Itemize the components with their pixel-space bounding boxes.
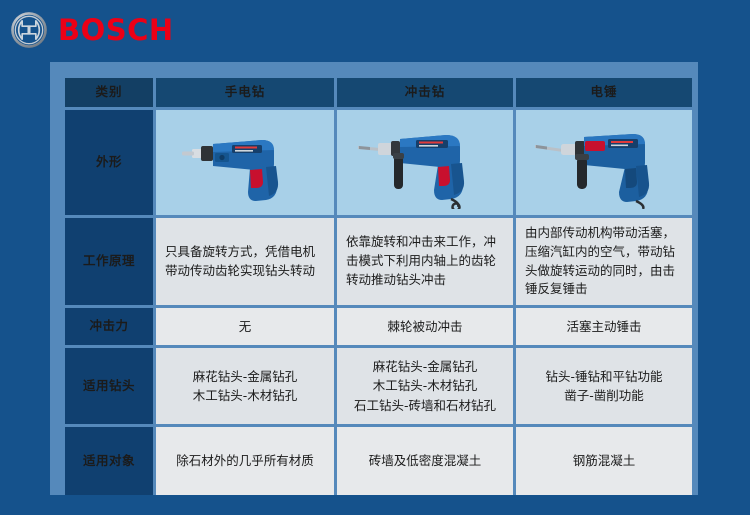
table-row-suitable-materials: 适用对象 除石材外的几乎所有材质 砖墙及低密度混凝土 钢筋混凝土 bbox=[65, 427, 692, 495]
cell-text: 活塞主动锤击 bbox=[516, 313, 692, 340]
rotary-hammer-image bbox=[529, 117, 679, 209]
header-cell-category: 类别 bbox=[65, 78, 153, 107]
cell-text: 钢筋混凝土 bbox=[516, 447, 692, 474]
row-label-working-principle: 工作原理 bbox=[65, 218, 153, 305]
impact-drill-image bbox=[350, 117, 500, 209]
table-header-row: 类别 手电钻 冲击钻 电锤 bbox=[65, 78, 692, 107]
cell-principle-hand-drill: 只具备旋转方式，凭借电机带动传动齿轮实现钻头转动 bbox=[156, 218, 334, 305]
cell-force-impact-drill: 棘轮被动冲击 bbox=[337, 308, 513, 345]
cell-text: 依靠旋转和冲击来工作，冲击模式下利用内轴上的齿轮转动推动钻头冲击 bbox=[337, 227, 513, 295]
cell-bits-hand-drill: 麻花钻头-金属钻孔 木工钻头-木材钻孔 bbox=[156, 348, 334, 424]
row-label-suitable-bits: 适用钻头 bbox=[65, 348, 153, 424]
header-cell-rotary-hammer: 电锤 bbox=[516, 78, 692, 107]
cell-shape-impact-drill bbox=[337, 110, 513, 215]
table-row-working-principle: 工作原理 只具备旋转方式，凭借电机带动传动齿轮实现钻头转动 依靠旋转和冲击来工作… bbox=[65, 218, 692, 305]
row-label-shape: 外形 bbox=[65, 110, 153, 215]
table-row-shape: 外形 bbox=[65, 110, 692, 215]
cell-materials-hand-drill: 除石材外的几乎所有材质 bbox=[156, 427, 334, 495]
cell-bits-rotary-hammer: 钻头-锤钻和平钻功能 凿子-凿削功能 bbox=[516, 348, 692, 424]
table-row-suitable-bits: 适用钻头 麻花钻头-金属钻孔 木工钻头-木材钻孔 麻花钻头-金属钻孔 木工钻头-… bbox=[65, 348, 692, 424]
cell-force-hand-drill: 无 bbox=[156, 308, 334, 345]
drill-comparison-table: 类别 手电钻 冲击钻 电锤 外形 bbox=[62, 75, 695, 498]
brand-wordmark: BOSCH bbox=[58, 16, 174, 45]
cell-text: 无 bbox=[156, 313, 334, 340]
cell-bits-impact-drill: 麻花钻头-金属钻孔 木工钻头-木材钻孔 石工钻头-砖墙和石材钻孔 bbox=[337, 348, 513, 424]
bosch-armature-logo-icon bbox=[10, 11, 48, 49]
cell-text: 砖墙及低密度混凝土 bbox=[337, 447, 513, 474]
cell-text: 钻头-锤钻和平钻功能 凿子-凿削功能 bbox=[516, 363, 692, 410]
cell-materials-rotary-hammer: 钢筋混凝土 bbox=[516, 427, 692, 495]
cell-text: 除石材外的几乎所有材质 bbox=[156, 447, 334, 474]
cell-text: 棘轮被动冲击 bbox=[337, 313, 513, 340]
cell-text: 由内部传动机构带动活塞，压缩汽缸内的空气，带动钻头做旋转运动的同时，由击锤反复锤… bbox=[516, 218, 692, 305]
cell-principle-rotary-hammer: 由内部传动机构带动活塞，压缩汽缸内的空气，带动钻头做旋转运动的同时，由击锤反复锤… bbox=[516, 218, 692, 305]
cell-materials-impact-drill: 砖墙及低密度混凝土 bbox=[337, 427, 513, 495]
brand-header: BOSCH bbox=[10, 8, 174, 52]
hand-drill-image bbox=[170, 120, 320, 206]
row-label-impact-force: 冲击力 bbox=[65, 308, 153, 345]
cell-text: 只具备旋转方式，凭借电机带动传动齿轮实现钻头转动 bbox=[156, 237, 334, 287]
cell-text: 麻花钻头-金属钻孔 木工钻头-木材钻孔 bbox=[156, 363, 334, 410]
cell-principle-impact-drill: 依靠旋转和冲击来工作，冲击模式下利用内轴上的齿轮转动推动钻头冲击 bbox=[337, 218, 513, 305]
cell-text: 麻花钻头-金属钻孔 木工钻头-木材钻孔 石工钻头-砖墙和石材钻孔 bbox=[337, 353, 513, 419]
cell-force-rotary-hammer: 活塞主动锤击 bbox=[516, 308, 692, 345]
cell-shape-rotary-hammer bbox=[516, 110, 692, 215]
table-row-impact-force: 冲击力 无 棘轮被动冲击 活塞主动锤击 bbox=[65, 308, 692, 345]
cell-shape-hand-drill bbox=[156, 110, 334, 215]
header-cell-hand-drill: 手电钻 bbox=[156, 78, 334, 107]
page-root: BOSCH 类别 手电钻 冲击钻 电锤 外形 bbox=[0, 0, 750, 515]
row-label-suitable-materials: 适用对象 bbox=[65, 427, 153, 495]
header-cell-impact-drill: 冲击钻 bbox=[337, 78, 513, 107]
